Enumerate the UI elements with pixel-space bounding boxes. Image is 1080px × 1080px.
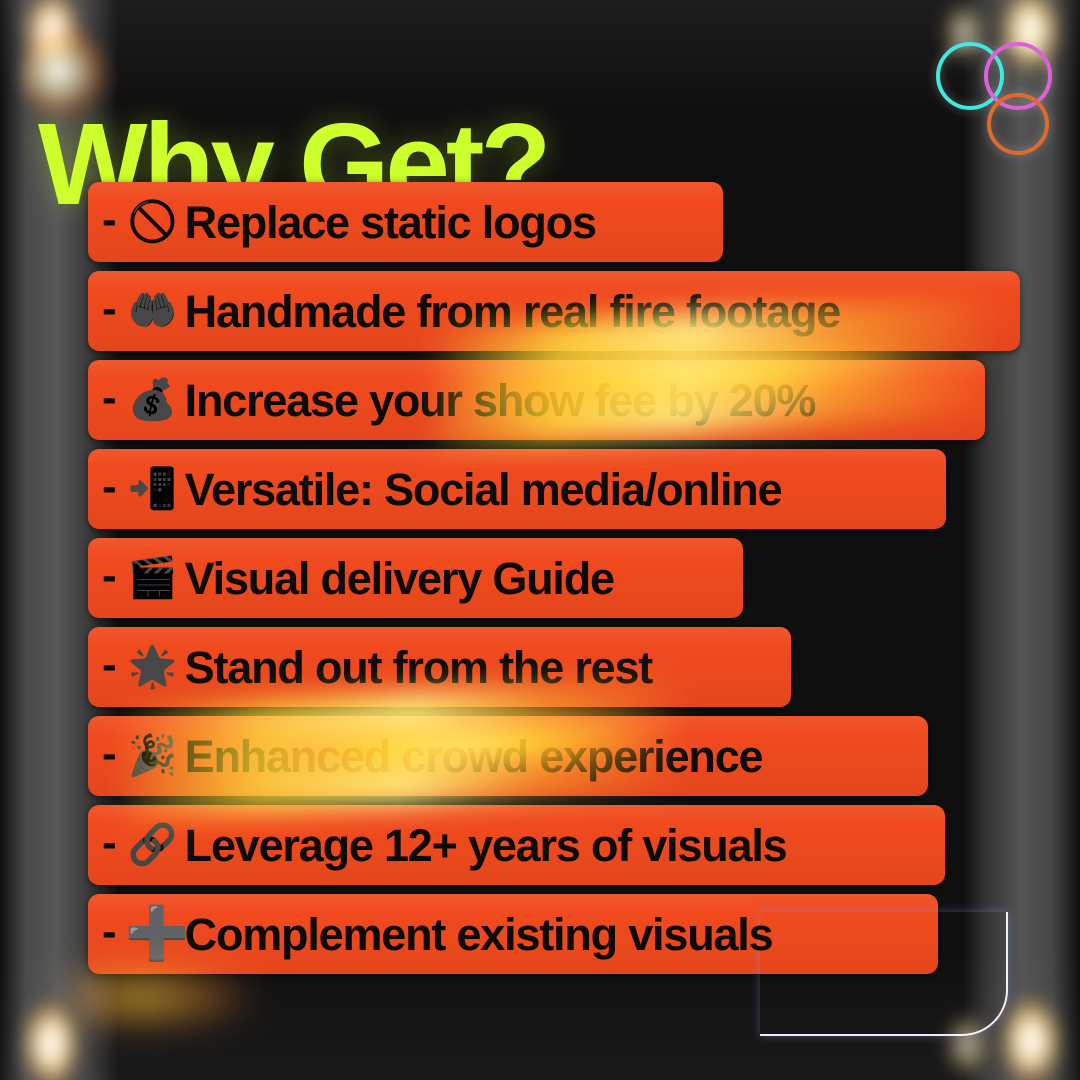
list-item[interactable]: - ➕ Complement existing visuals: [88, 894, 938, 974]
bullet-dash: -: [102, 198, 117, 242]
list-item[interactable]: - 🔗 Leverage 12+ years of visuals: [88, 805, 945, 885]
bullet-dash: -: [102, 465, 117, 509]
list-item[interactable]: - 🤲 Handmade from real fire footage: [88, 271, 1020, 351]
list-item[interactable]: - 💰 Increase your show fee by 20%: [88, 360, 985, 440]
corner-glow-bottom-right-icon: [1002, 998, 1060, 1080]
bullet-dash: -: [102, 554, 117, 598]
list-item-label: Leverage 12+ years of visuals: [185, 823, 787, 868]
bullet-dash: -: [102, 287, 117, 331]
list-item-label: Visual delivery Guide: [185, 556, 614, 601]
bullet-dash: -: [102, 732, 117, 776]
list-item[interactable]: - 🌟 Stand out from the rest: [88, 627, 791, 707]
link-icon: 🔗: [125, 825, 181, 865]
corner-glow-bottom-left-icon: [24, 1002, 78, 1080]
money-bag-icon: 💰: [125, 380, 181, 420]
bullet-dash: -: [102, 643, 117, 687]
bullet-dash: -: [102, 376, 117, 420]
bullet-dash: -: [102, 910, 117, 954]
mobile-arrow-icon: 📲: [125, 469, 181, 509]
corner-glow-top-left-icon: [26, 0, 78, 70]
list-item[interactable]: - 🎬 Visual delivery Guide: [88, 538, 743, 618]
list-item-label: Replace static logos: [185, 200, 596, 245]
logo-circle-orange: [989, 95, 1047, 153]
benefits-list: - 🚫 Replace static logos - 🤲 Handmade fr…: [88, 182, 1008, 983]
bullet-dash: -: [102, 821, 117, 865]
list-item[interactable]: - 🚫 Replace static logos: [88, 182, 723, 262]
brand-logo[interactable]: [926, 32, 1058, 156]
list-item-label: Complement existing visuals: [185, 912, 773, 957]
slide-canvas: Why Get? - 🚫 Replace static logos - 🤲 Ha…: [0, 0, 1080, 1080]
clapper-board-icon: 🎬: [125, 558, 181, 598]
open-hands-icon: 🤲: [125, 291, 181, 331]
prohibited-icon: 🚫: [125, 202, 181, 242]
party-popper-icon: 🎉: [125, 736, 181, 776]
logo-circle-magenta: [986, 44, 1050, 108]
plus-icon: ➕: [125, 908, 181, 960]
list-item-label: Enhanced crowd experience: [185, 734, 763, 779]
logo-circle-cyan: [938, 44, 1002, 108]
list-item-label: Stand out from the rest: [185, 645, 652, 690]
list-item-label: Handmade from real fire footage: [185, 289, 840, 334]
list-item-label: Versatile: Social media/online: [185, 467, 782, 512]
glowing-star-icon: 🌟: [125, 647, 181, 687]
list-item-label: Increase your show fee by 20%: [185, 378, 816, 423]
list-item[interactable]: - 📲 Versatile: Social media/online: [88, 449, 946, 529]
list-item[interactable]: - 🎉 Enhanced crowd experience: [88, 716, 928, 796]
